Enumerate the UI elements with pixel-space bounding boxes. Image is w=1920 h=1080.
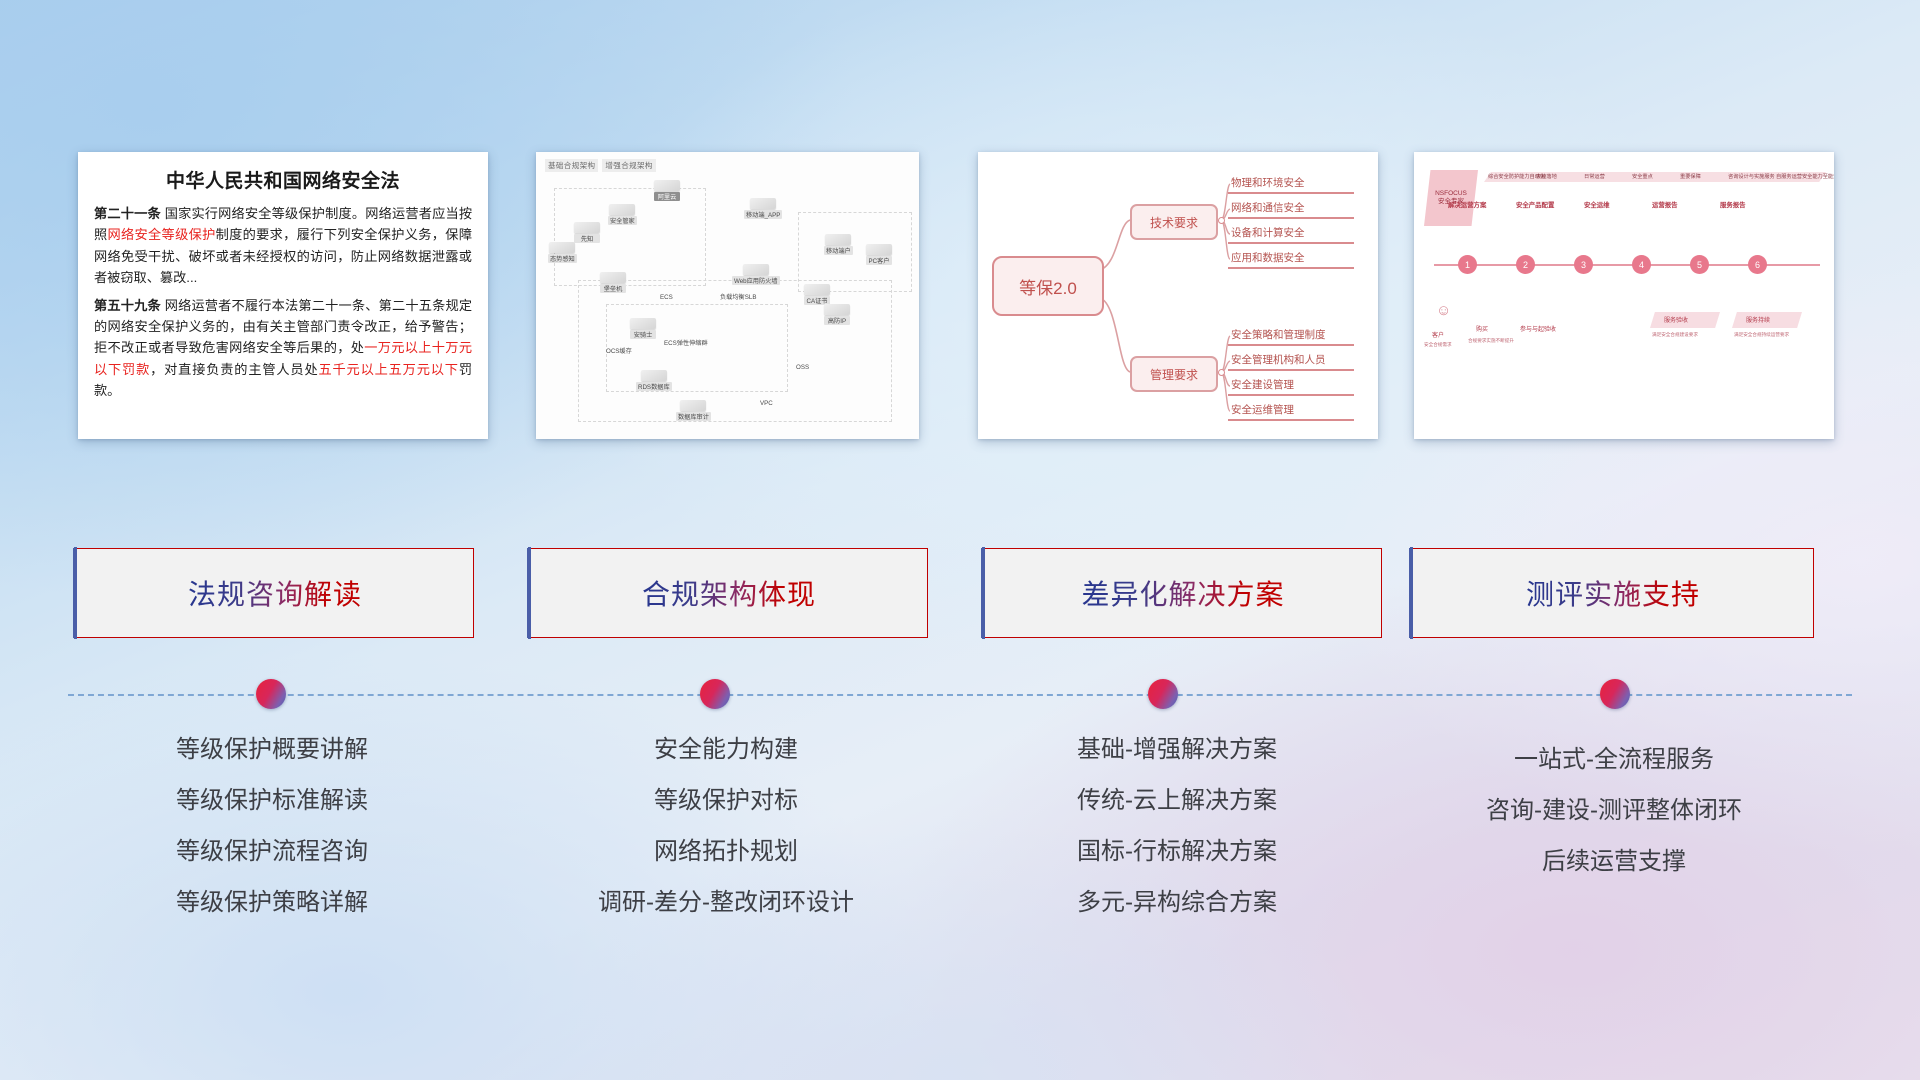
list-item: 网络拓扑规划 [526, 840, 926, 864]
pillar-items-column-4: 一站式-全流程服务 咨询-建设-测评整体闭环 后续运营支撑 [1404, 748, 1824, 901]
list-item: 基础-增强解决方案 [972, 738, 1382, 762]
pillar-items-column-3: 基础-增强解决方案 传统-云上解决方案 国标-行标解决方案 多元-异构综合方案 [972, 738, 1382, 942]
pillar-title-box-1[interactable]: 法规咨询解读 [76, 548, 474, 638]
timeline-dot-1[interactable] [256, 679, 286, 709]
pillar-items-column-1: 等级保护概要讲解 等级保护标准解读 等级保护流程咨询 等级保护策略详解 [72, 738, 472, 942]
list-item: 多元-异构综合方案 [972, 891, 1382, 915]
list-item: 后续运营支撑 [1404, 850, 1824, 874]
pillar-title-2: 合规架构体现 [642, 573, 816, 613]
timeline-dot-3[interactable] [1148, 679, 1178, 709]
list-item: 等级保护流程咨询 [72, 840, 472, 864]
list-item: 国标-行标解决方案 [972, 840, 1382, 864]
list-item: 等级保护对标 [526, 789, 926, 813]
timeline-dashed-line [68, 694, 1852, 696]
list-item: 调研-差分-整改闭环设计 [526, 891, 926, 915]
pillar-title-box-2[interactable]: 合规架构体现 [530, 548, 928, 638]
pillar-title-1: 法规咨询解读 [188, 573, 362, 613]
list-item: 等级保护概要讲解 [72, 738, 472, 762]
list-item: 一站式-全流程服务 [1404, 748, 1824, 772]
list-item: 等级保护标准解读 [72, 789, 472, 813]
pillar-title-4: 测评实施支持 [1526, 573, 1700, 613]
list-item: 安全能力构建 [526, 738, 926, 762]
pillar-title-box-4[interactable]: 测评实施支持 [1412, 548, 1814, 638]
pillar-title-3: 差异化解决方案 [1081, 573, 1284, 613]
list-item: 等级保护策略详解 [72, 891, 472, 915]
pillar-title-box-3[interactable]: 差异化解决方案 [984, 548, 1382, 638]
list-item: 咨询-建设-测评整体闭环 [1404, 799, 1824, 823]
timeline-dot-2[interactable] [700, 679, 730, 709]
list-item: 传统-云上解决方案 [972, 789, 1382, 813]
pillar-items-column-2: 安全能力构建 等级保护对标 网络拓扑规划 调研-差分-整改闭环设计 [526, 738, 926, 942]
timeline-dot-4[interactable] [1600, 679, 1630, 709]
